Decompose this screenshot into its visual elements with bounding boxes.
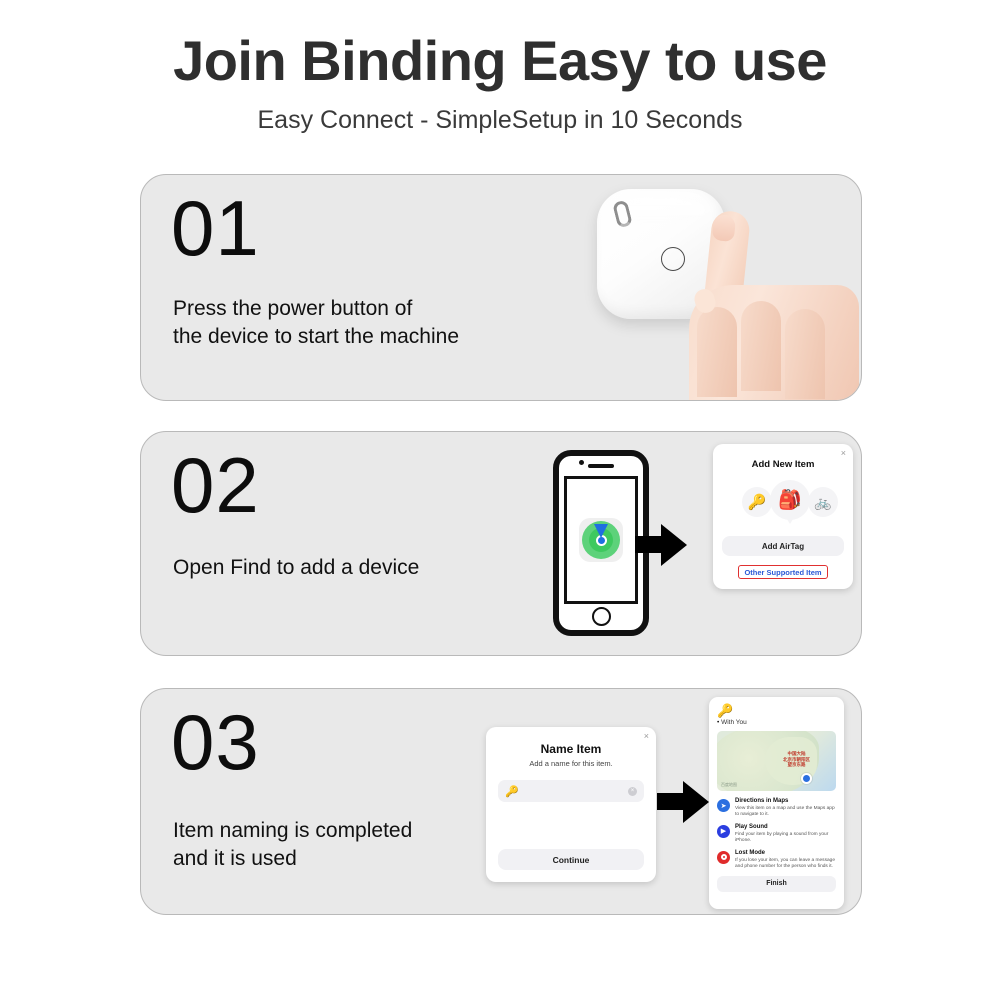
status-badge: • With You <box>717 719 836 726</box>
step-description-1: Press the power button of the device to … <box>173 295 459 351</box>
action-title: Play Sound <box>735 824 836 831</box>
item-type-bubbles: 🔑 🎒 🚲 <box>722 478 844 524</box>
page-header: Join Binding Easy to use Easy Connect - … <box>0 30 1000 135</box>
step-1-artwork <box>561 175 861 401</box>
phone-screen <box>564 476 638 604</box>
map-attribution: 百度地图 <box>721 782 737 788</box>
find-my-app-icon[interactable] <box>579 518 623 562</box>
map-location-pin[interactable] <box>801 773 812 784</box>
step-number-1: 01 <box>171 189 260 267</box>
clear-icon[interactable]: × <box>628 787 637 796</box>
play-sound-icon: ▶ <box>717 825 730 838</box>
step-card-1: 01 Press the power button of the device … <box>140 174 862 401</box>
key-icon: 🔑 <box>505 785 519 798</box>
action-title: Lost Mode <box>735 850 836 857</box>
step-card-2: 02 Open Find to add a device <box>140 431 862 656</box>
key-bubble-icon: 🔑 <box>742 487 772 517</box>
promo-page: Join Binding Easy to use Easy Connect - … <box>0 0 1000 1000</box>
bubble-tail <box>785 516 795 524</box>
other-supported-item-row: Other Supported Item <box>722 565 844 579</box>
bicycle-bubble-icon: 🚲 <box>808 487 838 517</box>
status-text: With You <box>721 719 747 726</box>
dialog-title: Add New Item <box>722 459 844 470</box>
map-location-label: 中国大陆 北京市朝阳区 望京东路 <box>783 751 810 768</box>
action-description: Find your item by playing a sound from y… <box>735 832 836 844</box>
right-arrow-icon <box>657 781 709 823</box>
lost-mode-icon <box>717 851 730 864</box>
add-airtag-button[interactable]: Add AirTag <box>722 536 844 556</box>
page-title: Join Binding Easy to use <box>0 30 1000 92</box>
page-subtitle: Easy Connect - SimpleSetup in 10 Seconds <box>0 106 1000 135</box>
name-item-dialog: × Name Item Add a name for this item. 🔑 … <box>486 727 656 882</box>
add-new-item-dialog: × Add New Item 🔑 🎒 🚲 Add AirTag Other Su… <box>713 444 853 589</box>
continue-button[interactable]: Continue <box>498 849 644 870</box>
action-description: View this item on a map and use the Maps… <box>735 806 836 818</box>
home-button[interactable] <box>592 607 611 626</box>
hand-pressing-button <box>669 211 859 401</box>
finish-button[interactable]: Finish <box>717 876 836 892</box>
action-list: ➤ Directions in Maps View this item on a… <box>717 798 836 870</box>
earpiece-icon <box>588 464 614 468</box>
item-name-input[interactable]: 🔑 × <box>498 780 644 802</box>
step-3-artwork: × Name Item Add a name for this item. 🔑 … <box>141 689 862 915</box>
item-detail-panel: 🔑 • With You 中国大陆 北京市朝阳区 望京东路 百度地图 ➤ Dir… <box>709 697 844 909</box>
finger-1 <box>697 307 737 397</box>
action-description: If you lose your item, you can leave a m… <box>735 858 836 870</box>
close-icon[interactable]: × <box>644 732 649 741</box>
map-view[interactable]: 中国大陆 北京市朝阳区 望京东路 百度地图 <box>717 731 836 791</box>
radar-outer-ring <box>582 521 620 559</box>
action-title: Directions in Maps <box>735 798 836 805</box>
other-supported-item-link[interactable]: Other Supported Item <box>738 565 827 579</box>
front-camera-icon <box>579 460 584 465</box>
dialog-title: Name Item <box>498 742 644 756</box>
finger-3 <box>785 309 825 399</box>
list-item[interactable]: Lost Mode If you lose your item, you can… <box>717 850 836 870</box>
dialog-subtitle: Add a name for this item. <box>498 759 644 768</box>
arrow-head <box>661 524 687 566</box>
directions-icon: ➤ <box>717 799 730 812</box>
list-item[interactable]: ▶ Play Sound Find your item by playing a… <box>717 824 836 844</box>
radar-beam-icon <box>594 524 608 538</box>
step-card-3: 03 Item naming is completed and it is us… <box>140 688 862 915</box>
backpack-bubble-icon: 🎒 <box>770 480 810 520</box>
close-icon[interactable]: × <box>841 449 846 458</box>
key-icon: 🔑 <box>717 704 836 717</box>
right-arrow-icon <box>635 524 687 566</box>
list-item[interactable]: ➤ Directions in Maps View this item on a… <box>717 798 836 818</box>
finger-2 <box>741 301 781 391</box>
step-2-artwork: × Add New Item 🔑 🎒 🚲 Add AirTag Other Su… <box>141 432 862 656</box>
fingernail <box>712 214 737 242</box>
status-dot-icon: • <box>717 719 719 726</box>
arrow-head <box>683 781 709 823</box>
